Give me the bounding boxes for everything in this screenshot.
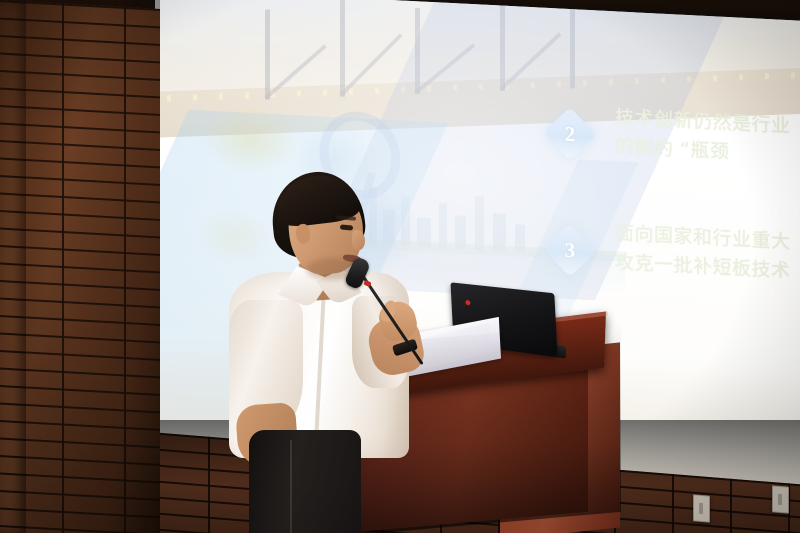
speaker-trousers <box>249 430 361 533</box>
bullet-number-diamond: 2 <box>543 107 597 161</box>
wall-outlet-right[interactable] <box>772 485 789 513</box>
slide-bullet-list: 行业技术创新取得的新 2 技术创新仍然是行业 的制约 “瓶颈 3 面向国家和行业… <box>551 0 800 333</box>
bullet-number-label: 2 <box>551 114 589 154</box>
trouser-crease <box>290 440 292 533</box>
wall-outlet-left[interactable] <box>693 494 710 522</box>
photo-scene: 行业技术创新取得的新 2 技术创新仍然是行业 的制约 “瓶颈 3 面向国家和行业… <box>0 0 800 533</box>
speaker-eye <box>340 224 353 230</box>
bullet-text: 面向国家和行业重大 攻克一批补短板技术 <box>615 219 791 287</box>
laptop-logo-icon <box>465 300 470 306</box>
speaker-nose <box>352 230 365 250</box>
slide-bullet-item: 行业技术创新取得的新 <box>551 0 800 101</box>
bullet-number-diamond: 3 <box>543 223 597 277</box>
slide-bullet-item: 2 技术创新仍然是行业 的制约 “瓶颈 <box>551 86 800 217</box>
crane-mast <box>265 10 270 100</box>
crane-mast <box>340 0 345 97</box>
bullet-text: 技术创新仍然是行业 的制约 “瓶颈 <box>615 103 791 171</box>
bullet-number-label: 3 <box>551 230 589 270</box>
brick-wall-left-shading <box>0 0 160 533</box>
